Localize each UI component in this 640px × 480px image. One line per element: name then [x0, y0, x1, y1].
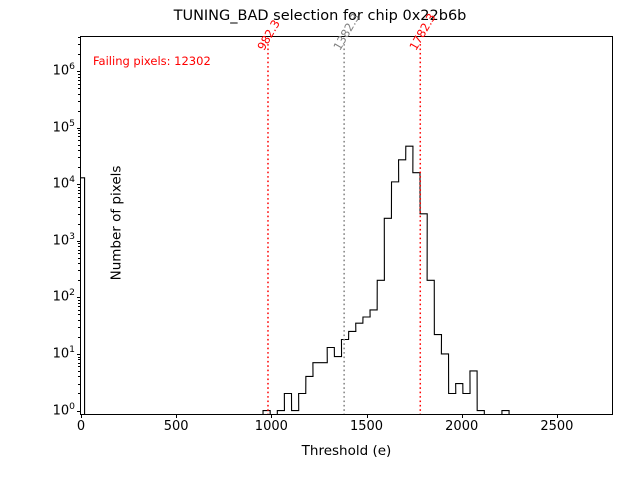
y-tick-minor: [78, 74, 81, 75]
y-tick-minor: [78, 258, 81, 259]
y-tick-minor: [78, 94, 81, 95]
x-tick-major: [176, 414, 177, 418]
y-tick-minor: [78, 306, 81, 307]
y-tick-minor: [78, 253, 81, 254]
y-tick-minor: [78, 130, 81, 131]
y-tick-major: [77, 128, 81, 129]
y-tick-minor: [78, 357, 81, 358]
y-tick-minor: [78, 84, 81, 85]
y-tick-label: 105: [53, 121, 75, 134]
y-tick-major: [77, 71, 81, 72]
y-tick-minor: [78, 327, 81, 328]
y-tick-minor: [78, 320, 81, 321]
y-tick-minor: [78, 280, 81, 281]
x-axis-label: Threshold (e): [80, 443, 613, 459]
y-tick-minor: [78, 359, 81, 360]
y-tick-minor: [78, 80, 81, 81]
y-tick-minor: [78, 145, 81, 146]
y-tick-minor: [78, 37, 81, 38]
y-tick-minor: [78, 243, 81, 244]
plot-axes: Failing pixels: 12302 100101102103104105…: [80, 36, 613, 415]
y-tick-major: [77, 297, 81, 298]
x-tick-label: 0: [77, 419, 85, 434]
y-tick-minor: [78, 187, 81, 188]
y-tick-minor: [78, 54, 81, 55]
y-tick-minor: [78, 193, 81, 194]
histogram-svg: [81, 37, 612, 414]
y-tick-major: [77, 411, 81, 412]
y-tick-minor: [78, 140, 81, 141]
y-tick-label: 100: [53, 404, 75, 417]
y-tick-major: [77, 241, 81, 242]
y-tick-minor: [78, 111, 81, 112]
y-tick-minor: [78, 246, 81, 247]
y-tick-minor: [78, 214, 81, 215]
y-tick-label: 104: [53, 178, 75, 191]
y-tick-minor: [78, 393, 81, 394]
y-axis-label: Number of pixels: [109, 34, 125, 413]
y-tick-minor: [78, 363, 81, 364]
plot-area: [81, 37, 612, 414]
chart-title: TUNING_BAD selection for chip 0x22b6b: [0, 8, 640, 24]
y-tick-minor: [78, 371, 81, 372]
y-tick-minor: [78, 207, 81, 208]
x-tick-label: 1500: [350, 419, 383, 434]
x-tick-major: [81, 414, 82, 418]
y-tick-minor: [78, 197, 81, 198]
x-tick-major: [271, 414, 272, 418]
x-tick-label: 2500: [540, 419, 573, 434]
y-tick-minor: [78, 303, 81, 304]
y-tick-minor: [78, 310, 81, 311]
y-tick-minor: [78, 77, 81, 78]
y-tick-minor: [78, 150, 81, 151]
y-tick-minor: [78, 224, 81, 225]
y-tick-label: 103: [53, 234, 75, 247]
x-tick-major: [367, 414, 368, 418]
y-tick-minor: [78, 136, 81, 137]
y-tick-minor: [78, 384, 81, 385]
y-tick-minor: [78, 263, 81, 264]
x-tick-major: [557, 414, 558, 418]
y-tick-minor: [78, 314, 81, 315]
y-tick-minor: [78, 133, 81, 134]
y-tick-minor: [78, 167, 81, 168]
y-tick-minor: [78, 157, 81, 158]
y-tick-minor: [78, 376, 81, 377]
y-tick-minor: [78, 270, 81, 271]
x-tick-label: 500: [164, 419, 189, 434]
y-tick-minor: [78, 337, 81, 338]
x-tick-major: [462, 414, 463, 418]
y-tick-major: [77, 184, 81, 185]
x-tick-label: 2000: [445, 419, 478, 434]
x-tick-label: 1000: [255, 419, 288, 434]
histogram-step-line: [81, 146, 509, 414]
y-tick-minor: [78, 250, 81, 251]
y-tick-label: 102: [53, 291, 75, 304]
threshold-vlines: [268, 44, 420, 414]
y-tick-label: 106: [53, 65, 75, 78]
y-tick-minor: [78, 366, 81, 367]
y-tick-minor: [78, 101, 81, 102]
y-tick-minor: [78, 190, 81, 191]
y-tick-minor: [78, 44, 81, 45]
y-tick-minor: [78, 300, 81, 301]
y-tick-minor: [78, 88, 81, 89]
y-tick-minor: [78, 201, 81, 202]
chart-figure: TUNING_BAD selection for chip 0x22b6b Fa…: [0, 0, 640, 480]
y-tick-label: 101: [53, 347, 75, 360]
y-tick-major: [77, 354, 81, 355]
